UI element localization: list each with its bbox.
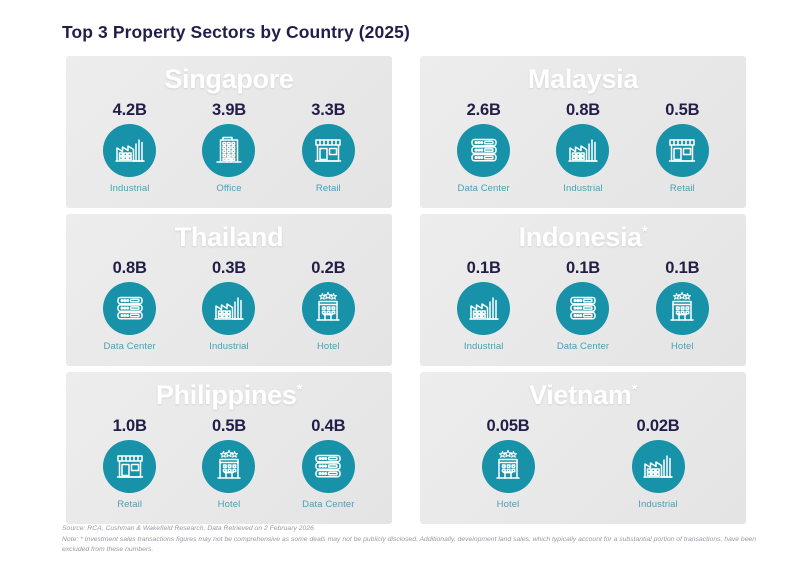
sector-item: 0.05BHotel	[465, 418, 551, 510]
sector-label: Industrial	[441, 341, 527, 352]
sector-label: Hotel	[465, 499, 551, 510]
footnote-marker: *	[297, 381, 303, 398]
country-name-text: Thailand	[175, 222, 284, 252]
sector-label: Retail	[639, 183, 725, 194]
storefront-icon	[656, 124, 709, 177]
server-rack-icon	[103, 282, 156, 335]
country-name: Thailand	[66, 222, 392, 253]
country-name-text: Malaysia	[528, 64, 638, 94]
storefront-icon	[302, 124, 355, 177]
sector-value: 0.1B	[540, 260, 626, 277]
country-name-text: Indonesia	[519, 222, 642, 252]
sector-list: 4.2BIndustrial3.9BOffice3.3BRetail	[66, 102, 392, 194]
footnotes: Source: RCA, Cushman & Wakefield Researc…	[62, 524, 762, 556]
sector-list: 0.05BHotel0.02BIndustrial	[420, 418, 746, 510]
sector-item: 4.2BIndustrial	[87, 102, 173, 194]
sector-value: 0.5B	[639, 102, 725, 119]
sector-item: 0.5BHotel	[186, 418, 272, 510]
sector-value: 0.8B	[87, 260, 173, 277]
sector-item: 3.9BOffice	[186, 102, 272, 194]
sector-label: Hotel	[639, 341, 725, 352]
country-name-text: Philippines	[156, 380, 297, 410]
sector-item: 3.3BRetail	[285, 102, 371, 194]
sector-label: Industrial	[615, 499, 701, 510]
sector-label: Hotel	[186, 499, 272, 510]
sector-item: 0.8BIndustrial	[540, 102, 626, 194]
sector-list: 1.0BRetail0.5BHotel0.4BData Center	[66, 418, 392, 510]
sector-label: Office	[186, 183, 272, 194]
sector-label: Retail	[285, 183, 371, 194]
sector-item: 0.02BIndustrial	[615, 418, 701, 510]
sector-value: 2.6B	[441, 102, 527, 119]
country-panel-indonesia: Indonesia*0.1BIndustrial0.1BData Center0…	[420, 214, 746, 366]
footnote-marker: *	[642, 223, 648, 240]
hotel-icon	[302, 282, 355, 335]
page-title: Top 3 Property Sectors by Country (2025)	[62, 22, 410, 43]
office-building-icon	[202, 124, 255, 177]
country-name-text: Vietnam	[529, 380, 631, 410]
sector-item: 0.5BRetail	[639, 102, 725, 194]
sector-item: 0.1BData Center	[540, 260, 626, 352]
sector-label: Data Center	[87, 341, 173, 352]
sector-value: 0.5B	[186, 418, 272, 435]
sector-value: 0.3B	[186, 260, 272, 277]
sector-value: 0.02B	[615, 418, 701, 435]
country-panel-vietnam: Vietnam*0.05BHotel0.02BIndustrial	[420, 372, 746, 524]
sector-value: 1.0B	[87, 418, 173, 435]
sector-item: 0.1BHotel	[639, 260, 725, 352]
sector-item: 0.1BIndustrial	[441, 260, 527, 352]
sector-item: 0.2BHotel	[285, 260, 371, 352]
sector-label: Data Center	[285, 499, 371, 510]
country-panel-philippines: Philippines*1.0BRetail0.5BHotel0.4BData …	[66, 372, 392, 524]
country-name-text: Singapore	[164, 64, 293, 94]
sector-value: 0.05B	[465, 418, 551, 435]
server-rack-icon	[302, 440, 355, 493]
sector-value: 0.1B	[639, 260, 725, 277]
sector-label: Industrial	[186, 341, 272, 352]
factory-icon	[103, 124, 156, 177]
sector-value: 0.8B	[540, 102, 626, 119]
server-rack-icon	[457, 124, 510, 177]
sector-item: 2.6BData Center	[441, 102, 527, 194]
server-rack-icon	[556, 282, 609, 335]
sector-label: Data Center	[540, 341, 626, 352]
hotel-icon	[656, 282, 709, 335]
sector-label: Industrial	[540, 183, 626, 194]
infographic-canvas: Top 3 Property Sectors by Country (2025)…	[0, 0, 800, 581]
source-line: Source: RCA, Cushman & Wakefield Researc…	[62, 524, 762, 535]
sector-list: 2.6BData Center0.8BIndustrial0.5BRetail	[420, 102, 746, 194]
sector-value: 0.2B	[285, 260, 371, 277]
hotel-icon	[482, 440, 535, 493]
sector-label: Retail	[87, 499, 173, 510]
sector-item: 0.8BData Center	[87, 260, 173, 352]
country-name: Singapore	[66, 64, 392, 95]
footnote-marker: *	[631, 381, 637, 398]
sector-value: 0.4B	[285, 418, 371, 435]
sector-label: Data Center	[441, 183, 527, 194]
sector-value: 0.1B	[441, 260, 527, 277]
sector-value: 3.9B	[186, 102, 272, 119]
country-panel-malaysia: Malaysia2.6BData Center0.8BIndustrial0.5…	[420, 56, 746, 208]
sector-item: 0.4BData Center	[285, 418, 371, 510]
sector-label: Hotel	[285, 341, 371, 352]
hotel-icon	[202, 440, 255, 493]
factory-icon	[556, 124, 609, 177]
sector-list: 0.1BIndustrial0.1BData Center0.1BHotel	[420, 260, 746, 352]
factory-icon	[457, 282, 510, 335]
sector-value: 3.3B	[285, 102, 371, 119]
country-name: Vietnam*	[420, 380, 746, 411]
country-name: Indonesia*	[420, 222, 746, 253]
factory-icon	[202, 282, 255, 335]
country-panel-singapore: Singapore4.2BIndustrial3.9BOffice3.3BRet…	[66, 56, 392, 208]
country-name: Philippines*	[66, 380, 392, 411]
factory-icon	[632, 440, 685, 493]
storefront-icon	[103, 440, 156, 493]
country-panel-grid: Singapore4.2BIndustrial3.9BOffice3.3BRet…	[66, 56, 746, 524]
sector-label: Industrial	[87, 183, 173, 194]
country-name: Malaysia	[420, 64, 746, 95]
country-panel-thailand: Thailand0.8BData Center0.3BIndustrial0.2…	[66, 214, 392, 366]
sector-value: 4.2B	[87, 102, 173, 119]
sector-item: 0.3BIndustrial	[186, 260, 272, 352]
sector-list: 0.8BData Center0.3BIndustrial0.2BHotel	[66, 260, 392, 352]
note-line: Note: * Investment sales transactions fi…	[62, 535, 762, 556]
sector-item: 1.0BRetail	[87, 418, 173, 510]
